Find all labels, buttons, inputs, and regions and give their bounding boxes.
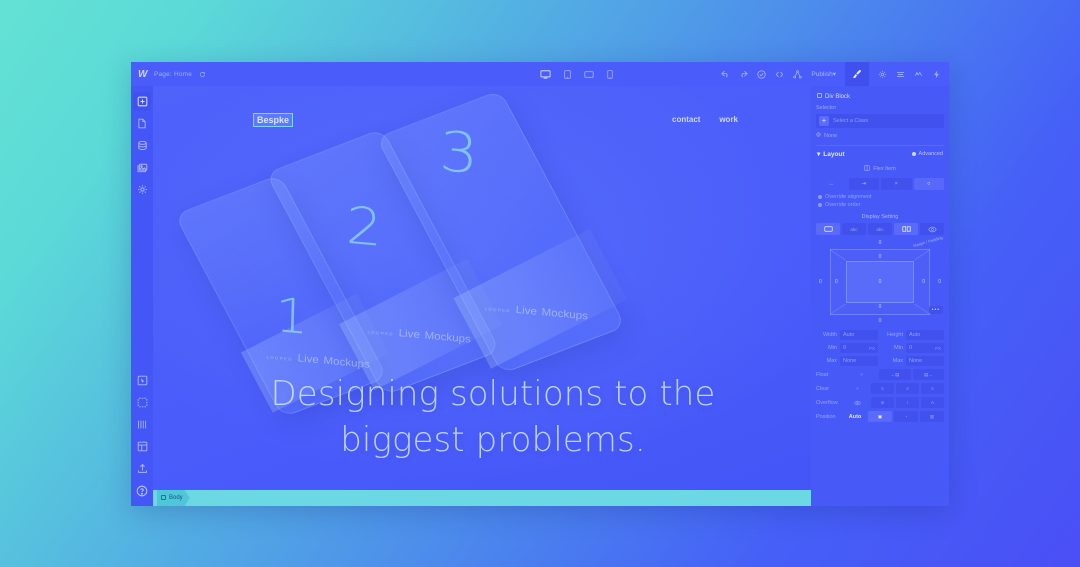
lightning-icon[interactable] bbox=[932, 70, 941, 79]
site-navbar: Bespke contact work bbox=[153, 86, 833, 132]
status-bar: Body bbox=[153, 490, 833, 506]
publish-button[interactable]: Publish▾ bbox=[811, 70, 836, 78]
share-nodes-icon[interactable] bbox=[793, 70, 802, 79]
select-class-placeholder: Select a Class bbox=[833, 118, 868, 124]
breadcrumb-label: Body bbox=[169, 495, 183, 501]
layout-label: Layout bbox=[823, 151, 844, 158]
flex-shrink-button[interactable]: × bbox=[881, 178, 912, 190]
overflow-hidden-button[interactable]: ⊘ bbox=[871, 397, 894, 408]
nav-link-contact[interactable]: contact bbox=[672, 115, 700, 124]
override-order-row[interactable]: Override order bbox=[818, 202, 944, 208]
clear-left-button[interactable]: ≡ bbox=[871, 383, 894, 394]
looped-label: LOOPED bbox=[266, 355, 292, 362]
publish-label: Publish bbox=[811, 71, 832, 78]
margin-bottom-value[interactable]: 0 bbox=[879, 318, 882, 324]
flex-move-button[interactable]: ↔ bbox=[816, 178, 847, 190]
design-canvas[interactable]: 1 LOOPED Live Mockups 2 LOOPED Live Mock… bbox=[153, 86, 833, 506]
position-row: Position Auto ▣ ◔ ▥ bbox=[816, 411, 944, 422]
square-icon bbox=[817, 93, 822, 100]
interactions-icon[interactable] bbox=[914, 70, 923, 79]
width-field-cell: Width Auto bbox=[816, 330, 878, 340]
display-inline-button[interactable]: abc bbox=[868, 223, 892, 235]
hero-heading[interactable]: Designing solutions to the biggest probl… bbox=[153, 372, 833, 464]
position-relative-button[interactable]: ▣ bbox=[868, 411, 892, 422]
selector-field[interactable]: + Select a Class bbox=[816, 114, 944, 128]
overflow-auto-button[interactable]: A bbox=[921, 397, 944, 408]
clear-right-button[interactable]: ≡ bbox=[896, 383, 919, 394]
tablet-landscape-icon[interactable] bbox=[584, 71, 594, 78]
style-panel: Div Block Selector + Select a Class None… bbox=[811, 86, 949, 506]
float-none-button[interactable]: × bbox=[846, 369, 877, 380]
override-alignment-label: Override alignment bbox=[825, 194, 871, 200]
site-settings-gear-icon[interactable] bbox=[133, 180, 151, 199]
width-height-row: Width Auto Height Auto bbox=[816, 330, 944, 340]
advanced-dot-icon bbox=[912, 152, 916, 156]
looped-label: LOOPED bbox=[485, 306, 511, 313]
max-row: Max None Max None bbox=[816, 356, 944, 366]
max-width-label: Max bbox=[816, 358, 837, 364]
min-width-label: Min bbox=[816, 345, 837, 351]
display-setting-label: Display Setting bbox=[816, 214, 944, 220]
max-height-value: None bbox=[909, 358, 922, 364]
top-toolbar: W Page: Home bbox=[131, 62, 949, 86]
display-flex-button[interactable] bbox=[894, 223, 918, 235]
looped-label: LOOPED bbox=[367, 330, 393, 337]
padding-left-value[interactable]: 0 bbox=[835, 279, 838, 285]
margin-top-value[interactable]: 0 bbox=[879, 240, 882, 246]
question-circle-icon[interactable] bbox=[133, 481, 151, 500]
position-fixed-button[interactable]: ▥ bbox=[920, 411, 944, 422]
element-label: Div Block bbox=[825, 94, 850, 100]
redo-icon[interactable] bbox=[739, 70, 748, 78]
position-buttons: ▣ ◔ ▥ bbox=[868, 411, 944, 422]
selector-label: Selector bbox=[816, 105, 944, 111]
display-block-button[interactable] bbox=[816, 223, 840, 235]
display-inline-block-button[interactable]: abc bbox=[842, 223, 866, 235]
inheritance-row[interactable]: None bbox=[816, 132, 944, 139]
height-field-cell: Height Auto bbox=[882, 330, 944, 340]
max-width-input[interactable]: None bbox=[840, 356, 878, 366]
hero-heading-line2: biggest problems. bbox=[153, 418, 833, 464]
max-height-label: Max bbox=[882, 358, 903, 364]
live-label: Live bbox=[398, 328, 420, 341]
width-input[interactable]: Auto bbox=[840, 330, 878, 340]
display-none-eye-off-icon-button[interactable] bbox=[920, 223, 944, 235]
mockup-numeral: 2 bbox=[345, 195, 383, 258]
clear-none-button[interactable]: × bbox=[846, 383, 869, 394]
content-box-center: 0 bbox=[879, 279, 882, 285]
selected-element-name: Div Block bbox=[817, 93, 944, 100]
brush-icon bbox=[852, 69, 862, 79]
position-value[interactable]: Auto bbox=[846, 414, 864, 420]
width-label: Width bbox=[816, 332, 837, 338]
refresh-icon[interactable] bbox=[199, 71, 206, 78]
flex-grow-button[interactable]: ⇥ bbox=[849, 178, 880, 190]
clear-row: Clear × ≡ ≡ ≡ bbox=[816, 383, 944, 394]
overflow-scroll-button[interactable]: ↕ bbox=[896, 397, 919, 408]
min-width-cell: Min 0 PX bbox=[816, 343, 878, 353]
float-label: Float bbox=[816, 372, 842, 378]
undo-icon[interactable] bbox=[721, 70, 730, 78]
min-height-input[interactable]: 0 PX bbox=[906, 343, 944, 353]
override-order-dot-icon bbox=[818, 203, 822, 207]
height-input[interactable]: Auto bbox=[906, 330, 944, 340]
advanced-toggle[interactable]: Advanced bbox=[912, 151, 943, 157]
plus-icon[interactable]: + bbox=[819, 116, 829, 126]
assets-icon[interactable] bbox=[133, 158, 151, 177]
flex-item-label: Flex Item bbox=[873, 166, 896, 172]
min-height-value: 0 bbox=[909, 345, 912, 351]
min-height-cell: Min 0 PX bbox=[882, 343, 944, 353]
overflow-buttons: ⊘ ↕ A bbox=[846, 397, 944, 408]
height-value: Auto bbox=[909, 332, 920, 338]
position-label: Position bbox=[816, 414, 842, 420]
overflow-row: Overflow ⊘ ↕ A bbox=[816, 397, 944, 408]
float-row: Float × ←▤ ▤→ bbox=[816, 369, 944, 380]
cursor-box-icon[interactable] bbox=[133, 371, 151, 390]
box-model-editor[interactable]: 0 0 0 0 0 0 0 0 0 Margin / Padding ••• bbox=[816, 240, 944, 324]
chevron-down-icon: ▾ bbox=[817, 150, 820, 158]
override-order-label: Override order bbox=[825, 202, 860, 208]
margin-padding-legend: Margin / Padding bbox=[913, 236, 943, 249]
overflow-visible-eye-icon-button[interactable] bbox=[846, 397, 869, 408]
flex-none-button[interactable]: ○ bbox=[914, 178, 945, 190]
float-left-button[interactable]: ←▤ bbox=[879, 369, 910, 380]
advanced-label: Advanced bbox=[919, 151, 943, 157]
override-alignment-row[interactable]: Override alignment bbox=[818, 194, 944, 200]
square-icon bbox=[161, 495, 166, 502]
tablet-icon[interactable] bbox=[564, 70, 571, 79]
margin-right-value[interactable]: 0 bbox=[938, 279, 941, 285]
gear-icon[interactable] bbox=[878, 70, 887, 79]
mockups-label: Mockups bbox=[542, 306, 589, 322]
hero-heading-line1: Designing solutions to the bbox=[153, 372, 833, 418]
database-icon[interactable] bbox=[133, 136, 151, 155]
width-value: Auto bbox=[843, 332, 854, 338]
layout-title: ▾ Layout bbox=[817, 150, 845, 158]
style-panel-tool[interactable] bbox=[845, 62, 869, 86]
export-icon[interactable] bbox=[133, 459, 151, 478]
site-logo-selected[interactable]: Bespke bbox=[254, 114, 292, 126]
breakpoint-switcher bbox=[431, 70, 721, 79]
min-height-label: Min bbox=[882, 345, 903, 351]
float-buttons: × ←▤ ▤→ bbox=[846, 369, 944, 380]
layout-section-header[interactable]: ▾ Layout Advanced bbox=[816, 145, 944, 162]
webflow-logo[interactable]: W bbox=[138, 69, 147, 80]
min-width-input[interactable]: 0 PX bbox=[840, 343, 878, 353]
margin-left-value[interactable]: 0 bbox=[819, 279, 822, 285]
nav-link-work[interactable]: work bbox=[719, 115, 738, 124]
live-label: Live bbox=[297, 353, 319, 366]
publish-caret: ▾ bbox=[833, 71, 836, 78]
min-width-value: 0 bbox=[843, 345, 846, 351]
flex-item-row: Flex Item bbox=[816, 165, 944, 173]
flex-align-button-group: ↔ ⇥ × ○ bbox=[816, 178, 944, 190]
mobile-icon[interactable] bbox=[607, 70, 613, 79]
inheritance-label: None bbox=[824, 133, 837, 139]
page-label[interactable]: Page: Home bbox=[154, 71, 192, 78]
flex-item-icon bbox=[864, 165, 870, 173]
text-align-icon[interactable] bbox=[896, 70, 905, 79]
max-width-cell: Max None bbox=[816, 356, 878, 366]
display-setting-buttons: abc abc bbox=[816, 223, 944, 235]
clear-buttons: × ≡ ≡ ≡ bbox=[846, 383, 944, 394]
position-absolute-button[interactable]: ◔ bbox=[894, 411, 918, 422]
gear-small-icon bbox=[816, 132, 821, 139]
symbol-icon[interactable] bbox=[133, 393, 151, 412]
max-height-input[interactable]: None bbox=[906, 356, 944, 366]
code-brackets-icon[interactable] bbox=[775, 70, 784, 79]
padding-right-value[interactable]: 0 bbox=[922, 279, 925, 285]
padding-top-value[interactable]: 0 bbox=[879, 254, 882, 260]
pages-panel[interactable] bbox=[133, 114, 151, 133]
min-height-unit: PX bbox=[935, 346, 941, 351]
box-model-more-button[interactable]: ••• bbox=[929, 306, 943, 314]
add-elements-panel[interactable] bbox=[133, 92, 151, 111]
float-right-button[interactable]: ▤→ bbox=[913, 369, 944, 380]
height-label: Height bbox=[882, 332, 903, 338]
left-sidebar bbox=[131, 86, 153, 506]
padding-bottom-value[interactable]: 0 bbox=[879, 304, 882, 310]
clear-label: Clear bbox=[816, 386, 842, 392]
max-height-cell: Max None bbox=[882, 356, 944, 366]
check-circle-icon[interactable] bbox=[757, 70, 766, 79]
layout-panel-icon[interactable] bbox=[133, 437, 151, 456]
override-alignment-dot-icon bbox=[818, 195, 822, 199]
min-width-unit: PX bbox=[869, 346, 875, 351]
min-row: Min 0 PX Min 0 PX bbox=[816, 343, 944, 353]
live-label: Live bbox=[516, 304, 538, 317]
max-width-value: None bbox=[843, 358, 856, 364]
clear-both-button[interactable]: ≡ bbox=[921, 383, 944, 394]
navigator-icon[interactable] bbox=[133, 415, 151, 434]
mockup-numeral: 1 bbox=[274, 287, 309, 345]
mockups-label: Mockups bbox=[424, 330, 471, 346]
breadcrumb-body[interactable]: Body bbox=[157, 490, 190, 506]
webflow-designer-window: W Page: Home bbox=[131, 62, 949, 506]
desktop-icon[interactable] bbox=[540, 70, 551, 79]
overflow-label: Overflow bbox=[816, 400, 842, 406]
